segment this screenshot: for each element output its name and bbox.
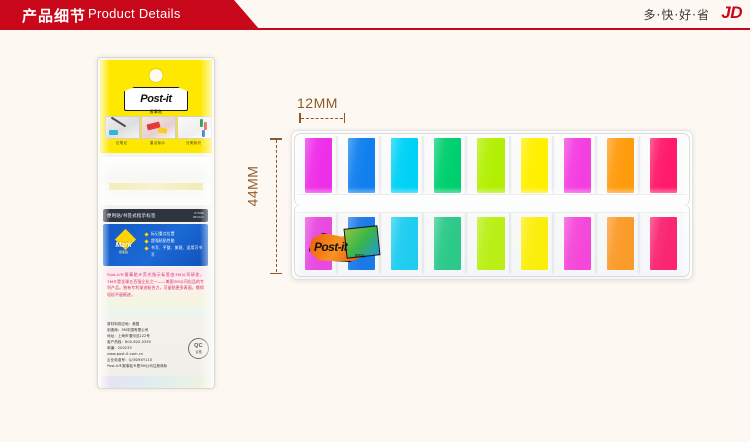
feature-photo-1: 记笔记 — [105, 116, 138, 146]
page-title-cn: 产品细节 — [22, 5, 86, 26]
feature-photo-2: 重点标示 — [141, 116, 174, 146]
flag-tab-bottom — [607, 217, 634, 270]
dimension-width-label: 12MM — [297, 95, 338, 111]
flag-gloss — [521, 217, 548, 270]
feature-photo-image — [105, 116, 140, 139]
feature-bullet: 标记重点位置 — [145, 230, 205, 237]
dimension-height-label: 44MM — [244, 166, 260, 207]
mark-logo-text: Mark — [109, 242, 138, 249]
postit-logo-sub: 报事贴 — [150, 109, 163, 115]
qc-stamp-icon: QC 合格 — [188, 338, 209, 359]
flag-gloss — [391, 217, 418, 270]
package-rainbow-sheet — [101, 376, 211, 389]
page-title-en: Product Details — [88, 6, 181, 21]
flag-tab-bottom — [477, 217, 504, 270]
flag-tab-top — [564, 138, 591, 193]
feature-photo-row: 记笔记 重点标示 分类标识 — [105, 116, 211, 146]
flag-gloss — [607, 217, 634, 270]
flag-gloss — [434, 217, 461, 270]
hang-hole-icon — [149, 68, 164, 83]
package-sku-block: N°/SIZE 683-9AU — [193, 212, 204, 220]
flag-gloss — [564, 138, 591, 193]
flag-tab-top — [477, 138, 504, 193]
package-blue-feature-panel: Mark 报事贴 标记重点位置 超强粘贴性能 书写、平整、美观、适用可书写 — [103, 224, 208, 266]
info-line: Post-it®报事贴®是3M公司注册商标 — [107, 363, 204, 369]
flag-gloss — [477, 217, 504, 270]
bracket-line — [276, 140, 277, 272]
feature-photo-caption: 记笔记 — [105, 141, 138, 146]
feature-bullet: 超强粘贴性能 — [145, 237, 205, 244]
flag-gloss — [650, 217, 677, 270]
package-description-block: Post-it®报事贴®荧光指示标签由3M公司研发，3M®是全球五百强企业之一—… — [103, 268, 208, 316]
feature-photo-caption: 重点标示 — [141, 141, 174, 146]
feature-photo-caption: 分类标识 — [177, 141, 210, 146]
flag-tab-top — [650, 138, 677, 193]
page-header: 产品细节 Product Details 多·快·好·省 JD — [0, 0, 750, 32]
flag-gloss — [521, 138, 548, 193]
flag-gloss — [305, 138, 332, 193]
header-rule — [0, 28, 750, 30]
flag-tab-top — [521, 138, 548, 193]
package-yellow-header: Post-it 报事贴 记笔记 重点标示 — [100, 60, 212, 153]
dimension-width-bracket — [299, 113, 345, 123]
flag-tab-top — [305, 138, 332, 193]
package-transparent-window — [101, 157, 211, 205]
bracket-line — [301, 118, 343, 119]
flag-gloss — [607, 138, 634, 193]
flag-gloss — [348, 138, 375, 193]
flag-tab-bottom — [521, 217, 548, 270]
package-description-text: Post-it®报事贴®荧光指示标签由3M公司研发，3M®是全球五百强企业之一—… — [107, 272, 204, 299]
flag-gloss — [477, 138, 504, 193]
package-product-name: 便利贴/书签式指示标签 — [107, 213, 156, 219]
flag-dispenser-image: Post-it 报事贴 — [291, 130, 693, 280]
package-sku-value: 683-9AU — [193, 216, 204, 220]
bracket-cap-bottom — [270, 273, 282, 275]
flag-gloss — [434, 138, 461, 193]
package-feature-list: 标记重点位置 超强粘贴性能 书写、平整、美观、适用可书写 — [145, 230, 205, 258]
flag-gloss — [391, 138, 418, 193]
postit-logo: Post-it — [124, 87, 188, 111]
flag-postit-logo-text: Post-it — [314, 240, 384, 254]
qc-stamp-sub: 合格 — [195, 349, 201, 354]
flag-tab-bottom — [391, 217, 418, 270]
feature-photo-image — [177, 116, 212, 139]
flag-tab-bottom — [434, 217, 461, 270]
flag-postit-logo: Post-it 报事贴 — [309, 227, 385, 263]
bracket-cap-right — [344, 113, 346, 123]
brand-slogan: 多·快·好·省 — [644, 6, 710, 23]
flag-gloss — [650, 138, 677, 193]
dimension-height-bracket — [270, 138, 282, 274]
flag-tab-top — [434, 138, 461, 193]
feature-bullet: 书写、平整、美观、适用可书写 — [145, 244, 205, 258]
dispenser-center-band — [296, 194, 688, 213]
flag-tab-top — [607, 138, 634, 193]
flag-tab-top — [348, 138, 375, 193]
flag-tab-top — [391, 138, 418, 193]
mark-logo-sub: 报事贴 — [109, 250, 138, 254]
feature-photo-image — [141, 116, 176, 139]
package-dark-title-bar: 便利贴/书签式指示标签 N°/SIZE 683-9AU — [103, 209, 208, 222]
jd-logo: JD — [721, 3, 742, 23]
product-package-image: Post-it 报事贴 记笔记 重点标示 — [97, 57, 215, 389]
mark-badge: Mark 报事贴 — [109, 232, 138, 256]
flag-gloss — [564, 217, 591, 270]
flag-postit-logo-sub: 报事贴 — [355, 253, 365, 258]
postit-logo-text: Post-it — [140, 93, 171, 105]
flag-tab-bottom — [564, 217, 591, 270]
flag-tab-bottom — [650, 217, 677, 270]
feature-photo-3: 分类标识 — [177, 116, 210, 146]
